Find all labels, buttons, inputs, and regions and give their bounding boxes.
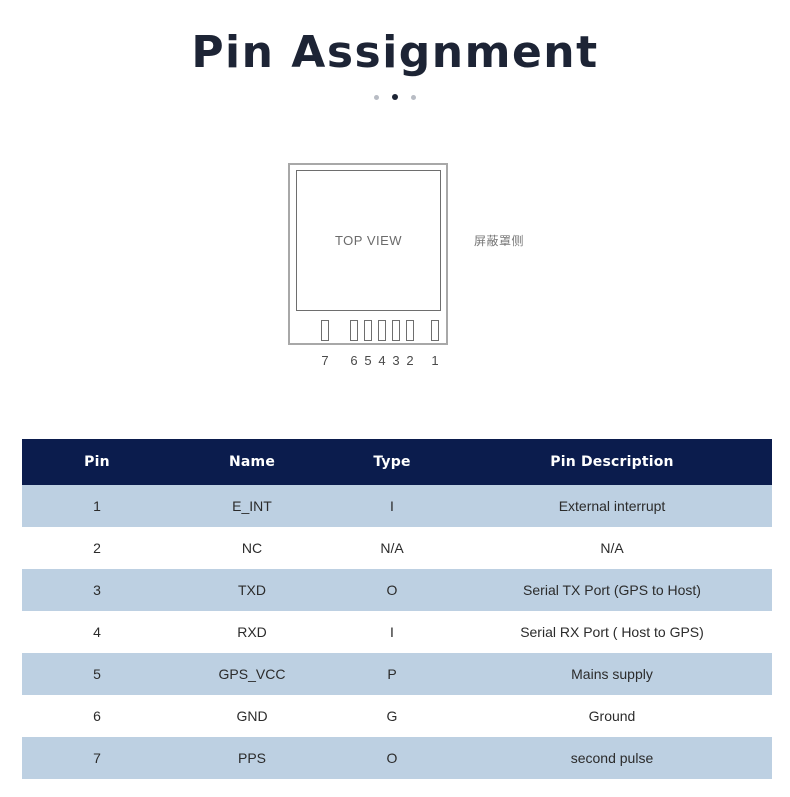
cell-name: TXD [172, 569, 332, 611]
cell-pin: 4 [22, 611, 172, 653]
pin-pad-2 [406, 320, 414, 341]
header: Pin Assignment [0, 24, 790, 102]
cell-description: External interrupt [452, 485, 772, 527]
pin-pad-7 [321, 320, 329, 341]
page-title: Pin Assignment [0, 24, 790, 82]
cell-description: Mains supply [452, 653, 772, 695]
shield-side-label: 屏蔽罩侧 [474, 232, 524, 249]
cell-type: O [332, 569, 452, 611]
cell-type: N/A [332, 527, 452, 569]
pin-number-5: 5 [361, 353, 375, 368]
column-header-type: Type [332, 439, 452, 485]
cell-type: G [332, 695, 452, 737]
cell-description: Serial TX Port (GPS to Host) [452, 569, 772, 611]
pin-pad-1 [431, 320, 439, 341]
column-header-description: Pin Description [452, 439, 772, 485]
cell-name: GND [172, 695, 332, 737]
cell-pin: 3 [22, 569, 172, 611]
module-diagram: TOP VIEW 7 6 5 4 3 2 1 屏蔽罩侧 [0, 150, 790, 390]
pin-pad-5 [364, 320, 372, 341]
cell-description: second pulse [452, 737, 772, 779]
pin-number-7: 7 [318, 353, 332, 368]
cell-pin: 2 [22, 527, 172, 569]
top-view-label: TOP VIEW [296, 170, 441, 311]
cell-type: I [332, 485, 452, 527]
decorative-dots [0, 92, 790, 102]
table-row: 6 GND G Ground [22, 695, 772, 737]
table-row: 4 RXD I Serial RX Port ( Host to GPS) [22, 611, 772, 653]
pin-number-1: 1 [428, 353, 442, 368]
pin-number-6: 6 [347, 353, 361, 368]
cell-pin: 6 [22, 695, 172, 737]
cell-name: GPS_VCC [172, 653, 332, 695]
column-header-pin: Pin [22, 439, 172, 485]
cell-type: P [332, 653, 452, 695]
dot-right-icon [411, 95, 416, 100]
cell-name: PPS [172, 737, 332, 779]
cell-name: NC [172, 527, 332, 569]
cell-name: RXD [172, 611, 332, 653]
pin-number-4: 4 [375, 353, 389, 368]
table-row: 3 TXD O Serial TX Port (GPS to Host) [22, 569, 772, 611]
cell-type: I [332, 611, 452, 653]
cell-description: Ground [452, 695, 772, 737]
dot-center-icon [392, 94, 398, 100]
cell-pin: 7 [22, 737, 172, 779]
pin-number-2: 2 [403, 353, 417, 368]
cell-pin: 5 [22, 653, 172, 695]
pin-number-3: 3 [389, 353, 403, 368]
cell-description: N/A [452, 527, 772, 569]
table-row: 7 PPS O second pulse [22, 737, 772, 779]
cell-description: Serial RX Port ( Host to GPS) [452, 611, 772, 653]
table-row: 1 E_INT I External interrupt [22, 485, 772, 527]
cell-type: O [332, 737, 452, 779]
table-header-row: Pin Name Type Pin Description [22, 439, 772, 485]
pin-assignment-table: Pin Name Type Pin Description 1 E_INT I … [22, 439, 772, 779]
pin-pad-3 [392, 320, 400, 341]
pin-pads-row [288, 320, 448, 342]
table-row: 2 NC N/A N/A [22, 527, 772, 569]
cell-name: E_INT [172, 485, 332, 527]
pin-number-labels: 7 6 5 4 3 2 1 [288, 353, 448, 373]
dot-left-icon [374, 95, 379, 100]
column-header-name: Name [172, 439, 332, 485]
cell-pin: 1 [22, 485, 172, 527]
pin-pad-6 [350, 320, 358, 341]
pin-pad-4 [378, 320, 386, 341]
table-row: 5 GPS_VCC P Mains supply [22, 653, 772, 695]
